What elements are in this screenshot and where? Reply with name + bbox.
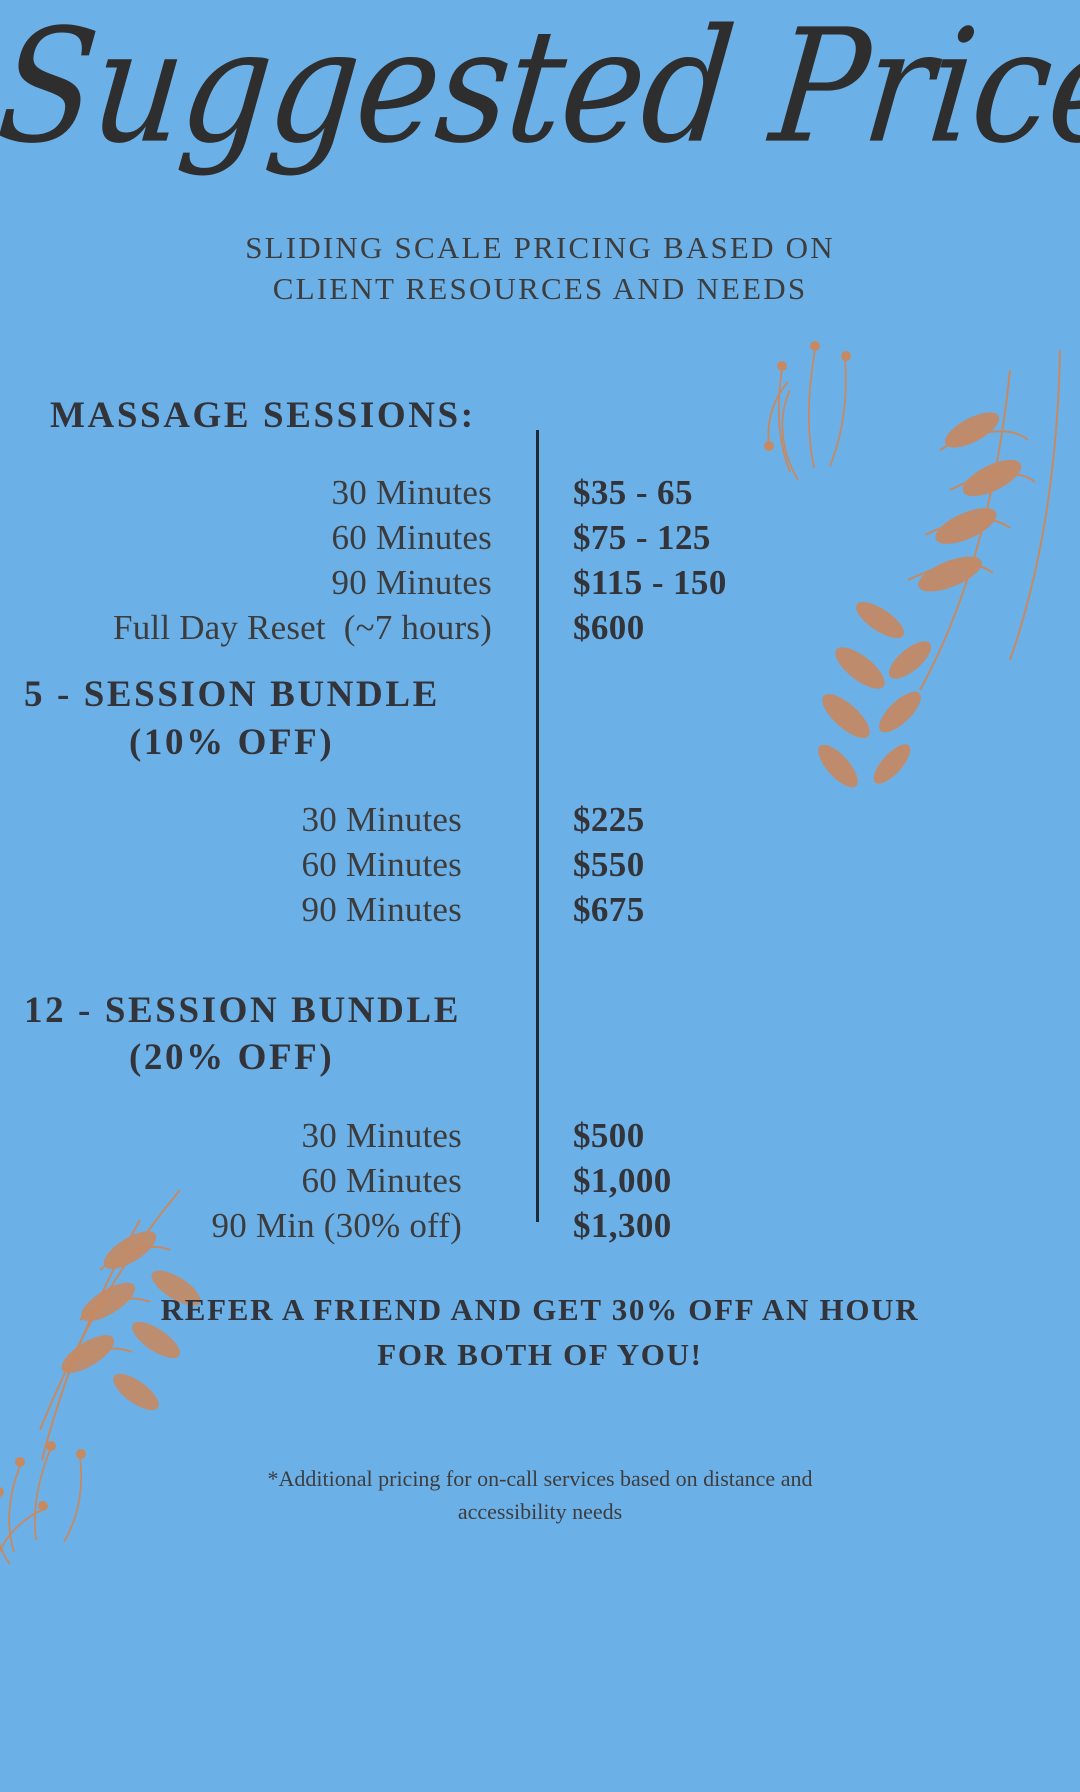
page-title: Suggested Price List	[0, 18, 1080, 158]
referral-line-2: FOR BOTH OF YOU!	[0, 1333, 1080, 1378]
price-row: 60 Minutes $1,000	[0, 1161, 1080, 1206]
price-row: 60 Minutes $75 - 125	[0, 518, 1080, 563]
price-row: 30 Minutes $35 - 65	[0, 473, 1080, 518]
price-row: Full Day Reset (~7 hours) $600	[0, 608, 1080, 653]
section-heading-bundle-12: 12 - SESSION BUNDLE (20% OFF)	[24, 987, 1080, 1082]
price-row-value: $500	[462, 1116, 645, 1156]
section-subheading-bundle-12: (20% OFF)	[129, 1034, 1080, 1081]
price-row: 30 Minutes $225	[0, 800, 1080, 845]
section-heading-massage-text: MASSAGE SESSIONS:	[50, 395, 476, 436]
footnote-line-1: *Additional pricing for on-call services…	[0, 1462, 1080, 1495]
price-row-label: 60 Minutes	[0, 845, 462, 885]
price-row: 30 Minutes $500	[0, 1116, 1080, 1161]
section-heading-massage: MASSAGE SESSIONS:	[50, 392, 1080, 439]
pricing-table: MASSAGE SESSIONS: 30 Minutes $35 - 65 60…	[0, 392, 1080, 1251]
price-row-label: 90 Minutes	[0, 890, 462, 930]
price-list-poster: Suggested Price List SLIDING SCALE PRICI…	[0, 0, 1080, 1792]
price-row-label: 60 Minutes	[0, 518, 492, 558]
subtitle: SLIDING SCALE PRICING BASED ON CLIENT RE…	[0, 228, 1080, 310]
page-title-text: Suggested Price List	[0, 10, 1080, 167]
section-rows-bundle-12: 30 Minutes $500 60 Minutes $1,000 90 Min…	[0, 1116, 1080, 1251]
price-row-label: Full Day Reset (~7 hours)	[0, 608, 492, 648]
price-row-label: 30 Minutes	[0, 473, 492, 513]
section-rows-massage: 30 Minutes $35 - 65 60 Minutes $75 - 125…	[0, 473, 1080, 653]
price-row-value: $225	[462, 800, 645, 840]
price-row-label: 90 Min (30% off)	[0, 1206, 462, 1246]
section-rows-bundle-5: 30 Minutes $225 60 Minutes $550 90 Minut…	[0, 800, 1080, 935]
subtitle-line-1: SLIDING SCALE PRICING BASED ON	[0, 228, 1080, 269]
price-row-value: $1,000	[462, 1161, 672, 1201]
price-row-value: $35 - 65	[492, 473, 693, 513]
referral-line-1: REFER A FRIEND AND GET 30% OFF AN HOUR	[0, 1288, 1080, 1333]
price-row: 90 Minutes $675	[0, 890, 1080, 935]
footnote-line-2: accessibility needs	[0, 1495, 1080, 1528]
price-row-label: 90 Minutes	[0, 563, 492, 603]
price-row: 60 Minutes $550	[0, 845, 1080, 890]
section-heading-bundle-12-text: 12 - SESSION BUNDLE	[24, 990, 461, 1031]
price-row-value: $75 - 125	[492, 518, 711, 558]
section-heading-bundle-5: 5 - SESSION BUNDLE (10% OFF)	[24, 671, 1080, 766]
price-row: 90 Minutes $115 - 150	[0, 563, 1080, 608]
price-row-label: 30 Minutes	[0, 800, 462, 840]
price-row-value: $115 - 150	[492, 563, 727, 603]
price-row-label: 60 Minutes	[0, 1161, 462, 1201]
subtitle-line-2: CLIENT RESOURCES AND NEEDS	[0, 269, 1080, 310]
section-heading-bundle-5-text: 5 - SESSION BUNDLE	[24, 674, 440, 715]
price-row-value: $550	[462, 845, 645, 885]
section-subheading-bundle-5: (10% OFF)	[129, 719, 1080, 766]
price-row-value: $675	[462, 890, 645, 930]
price-row-value: $600	[492, 608, 645, 648]
price-row-label: 30 Minutes	[0, 1116, 462, 1156]
price-row: 90 Min (30% off) $1,300	[0, 1206, 1080, 1251]
footnote: *Additional pricing for on-call services…	[0, 1462, 1080, 1528]
price-row-value: $1,300	[462, 1206, 672, 1246]
referral-note: REFER A FRIEND AND GET 30% OFF AN HOUR F…	[0, 1288, 1080, 1378]
